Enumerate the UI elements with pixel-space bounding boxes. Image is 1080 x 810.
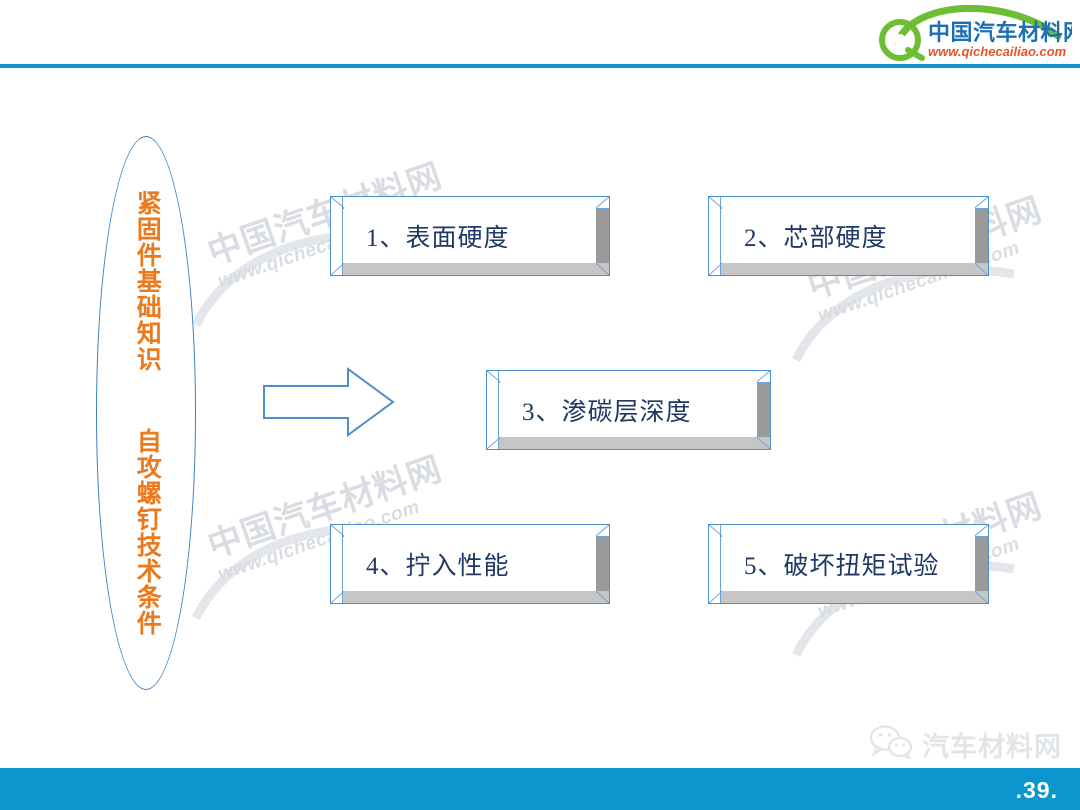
box-bevel-left	[331, 525, 343, 603]
diagram-box-4-label: 4、拧入性能	[344, 536, 596, 591]
topic-ellipse-label: 紧固件基础知识 自攻螺钉技术条件	[96, 136, 196, 690]
diagram-box-1[interactable]: 1、表面硬度	[330, 196, 610, 276]
right-block-arrow-icon	[262, 366, 396, 438]
box-bevel-bottom	[487, 437, 770, 449]
wechat-label: 汽车材料网	[922, 725, 1062, 764]
diagram-box-2[interactable]: 2、芯部硬度	[708, 196, 989, 276]
brand-logo: 中国汽车材料网 www.qichecailiao.com	[862, 2, 1072, 62]
logo-site-url: www.qichecailiao.com	[928, 44, 1067, 59]
diagram-box-3-label: 3、渗碳层深度	[500, 382, 757, 437]
box-bevel-bottom	[331, 263, 609, 275]
diagram-box-5-label: 5、破坏扭矩试验	[722, 536, 975, 591]
box-bevel-bottom	[331, 591, 609, 603]
wechat-icon	[869, 725, 915, 764]
footer-bar	[0, 768, 1080, 810]
box-bevel-left	[709, 525, 721, 603]
slide-canvas: 中国汽车材料网 www.qichecailiao.com 中国汽车材料网 www…	[0, 0, 1080, 810]
logo-site-name-cn: 中国汽车材料网	[928, 20, 1072, 45]
box-bevel-left	[487, 371, 499, 449]
header-divider-line	[0, 64, 1080, 68]
diagram-box-1-label: 1、表面硬度	[344, 208, 596, 263]
diagram-box-5[interactable]: 5、破坏扭矩试验	[708, 524, 989, 604]
wechat-watermark: 汽车材料网	[869, 725, 1062, 764]
diagram-box-2-label: 2、芯部硬度	[722, 208, 975, 263]
box-bevel-bottom	[709, 263, 988, 275]
page-number: .39.	[1016, 777, 1058, 804]
box-bevel-left	[709, 197, 721, 275]
box-bevel-bottom	[709, 591, 988, 603]
diagram-box-3[interactable]: 3、渗碳层深度	[486, 370, 771, 450]
diagram-box-4[interactable]: 4、拧入性能	[330, 524, 610, 604]
box-bevel-left	[331, 197, 343, 275]
